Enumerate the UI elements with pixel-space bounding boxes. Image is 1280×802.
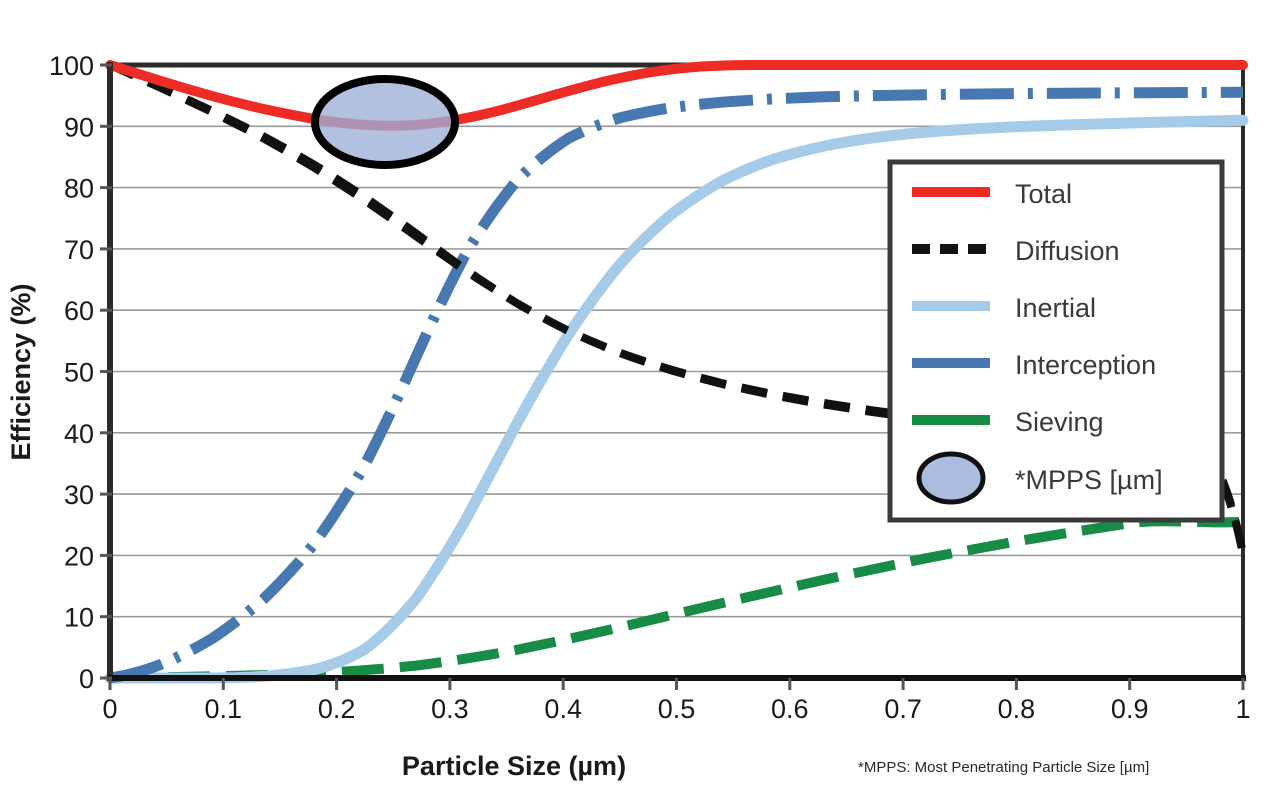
x-tick-label: 0 xyxy=(102,694,117,724)
legend-label-total: Total xyxy=(1015,179,1072,209)
y-tick-label: 40 xyxy=(64,419,94,449)
y-tick-label: 0 xyxy=(79,664,94,694)
legend-label-sieving: Sieving xyxy=(1015,407,1104,437)
x-tick-label: 0.2 xyxy=(318,694,356,724)
y-tick-label: 80 xyxy=(64,174,94,204)
x-tick-labels: 0 0.1 0.2 0.3 0.4 0.5 0.6 0.7 0.8 0.9 1 xyxy=(102,694,1250,724)
legend-label-inertial: Inertial xyxy=(1015,293,1096,323)
x-tick-label: 1 xyxy=(1235,694,1250,724)
x-tick-label: 0.5 xyxy=(658,694,696,724)
legend-swatch-mpps-ellipse xyxy=(919,454,983,502)
x-axis-title: Particle Size (µm) xyxy=(402,751,626,781)
y-tick-label: 50 xyxy=(64,358,94,388)
efficiency-vs-particle-size-chart: 100 90 80 70 60 50 40 30 20 10 0 0 0.1 0… xyxy=(0,0,1280,802)
x-tick-label: 0.8 xyxy=(998,694,1036,724)
y-tick-label: 10 xyxy=(64,603,94,633)
y-axis-title: Efficiency (%) xyxy=(6,283,36,460)
y-tick-label: 60 xyxy=(64,296,94,326)
y-tick-labels: 100 90 80 70 60 50 40 30 20 10 0 xyxy=(49,51,94,694)
legend-label-interception: Interception xyxy=(1015,350,1156,380)
x-tick-label: 0.9 xyxy=(1111,694,1149,724)
chart-legend: Total Diffusion Inertial Interception Si… xyxy=(890,162,1222,520)
filtration-efficiency-figure: 100 90 80 70 60 50 40 30 20 10 0 0 0.1 0… xyxy=(0,0,1280,802)
mpps-footnote: *MPPS: Most Penetrating Particle Size [µ… xyxy=(858,759,1149,776)
x-tick-label: 0.1 xyxy=(205,694,243,724)
legend-label-diffusion: Diffusion xyxy=(1015,236,1120,266)
x-tick-label: 0.3 xyxy=(431,694,469,724)
legend-label-mpps: *MPPS [µm] xyxy=(1015,465,1163,495)
y-tick-label: 100 xyxy=(49,51,94,81)
y-tick-label: 30 xyxy=(64,480,94,510)
y-tick-label: 20 xyxy=(64,541,94,571)
x-tick-label: 0.7 xyxy=(884,694,922,724)
x-tick-label: 0.4 xyxy=(544,694,582,724)
mpps-annotation-ellipse xyxy=(315,79,455,165)
y-tick-label: 90 xyxy=(64,112,94,142)
x-tick-label: 0.6 xyxy=(771,694,809,724)
y-tick-label: 70 xyxy=(64,235,94,265)
